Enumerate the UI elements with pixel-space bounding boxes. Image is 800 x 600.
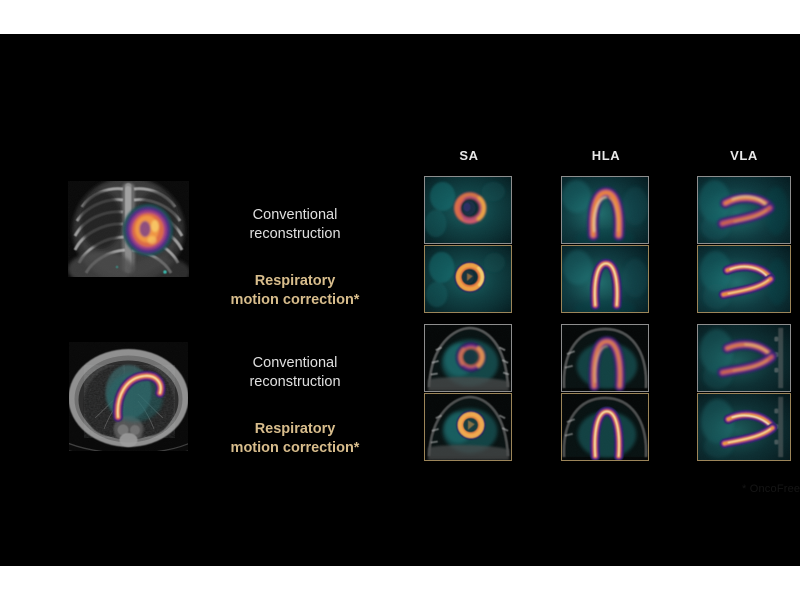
axial-fusion-graphic [62,334,195,459]
pet-ct-vla-vertical-long-axis-graphic [698,325,790,391]
tile-study2-conventional-vla [697,324,791,392]
pet-hla-horizontal-long-axis-graphic [562,246,648,312]
pet-hla-horizontal-long-axis-graphic [562,177,648,243]
coronal-fusion-graphic [62,174,195,284]
tile-study2-conventional-sa [424,324,512,392]
tile-study1-conventional-sa [424,176,512,244]
pet-ct-sa-short-axis-graphic [425,394,511,460]
pet-ct-hla-horizontal-long-axis-graphic [562,394,648,460]
tile-study1-conventional-hla [561,176,649,244]
slide-canvas: SA HLA VLA Conventional reconstruction R… [0,34,800,566]
column-header-hla: HLA [561,148,651,163]
tile-study2-conventional-hla [561,324,649,392]
footnote-oncofreeze: * OncoFreeze [742,483,800,495]
tile-study2-corrected-hla [561,393,649,461]
row-label-study2-corrected: Respiratory motion correction* [215,420,375,458]
row-label-study1-corrected: Respiratory motion correction* [215,272,375,310]
tile-study1-corrected-vla [697,245,791,313]
pet-vla-vertical-long-axis-graphic [698,246,790,312]
pet-ct-sa-short-axis-graphic [425,325,511,391]
tile-study1-corrected-hla [561,245,649,313]
pet-ct-hla-horizontal-long-axis-graphic [562,325,648,391]
tile-study1-conventional-vla [697,176,791,244]
column-header-sa: SA [424,148,514,163]
anatomy-panel-coronal-pet-ct-fusion [62,174,195,284]
pet-vla-vertical-long-axis-graphic [698,177,790,243]
pet-ct-vla-vertical-long-axis-graphic [698,394,790,460]
tile-study2-corrected-vla [697,393,791,461]
column-header-vla: VLA [697,148,791,163]
tile-study1-corrected-sa [424,245,512,313]
pet-sa-short-axis-graphic [425,177,511,243]
anatomy-panel-axial-pet-ct-fusion [62,334,195,459]
row-label-study1-conventional: Conventional reconstruction [215,206,375,244]
row-label-study2-conventional: Conventional reconstruction [215,354,375,392]
tile-study2-corrected-sa [424,393,512,461]
pet-sa-short-axis-graphic [425,246,511,312]
